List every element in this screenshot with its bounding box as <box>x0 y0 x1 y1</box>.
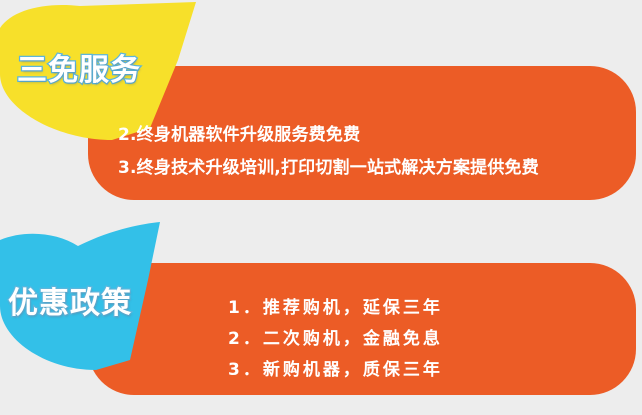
free-service-line-2: 2.终身机器软件升级服务费免费 <box>118 120 360 145</box>
section-free-service: 三免服务 2.终身机器软件升级服务费免费 3.终身技术升级培训,打印切割一站式解… <box>0 0 642 210</box>
section-preferential-policy: 优惠政策 1．推荐购机，延保三年 2．二次购机，金融免息 3．新购机器，质保三年 <box>0 210 642 415</box>
preferential-policy-line-1: 1．推荐购机，延保三年 <box>228 293 443 318</box>
preferential-policy-ribbon-title: 优惠政策 <box>8 278 132 322</box>
preferential-policy-line-3: 3．新购机器，质保三年 <box>228 355 443 380</box>
free-service-line-3: 3.终身技术升级培训,打印切割一站式解决方案提供免费 <box>118 153 539 178</box>
free-service-ribbon-title: 三免服务 <box>17 45 141 89</box>
preferential-policy-line-2: 2．二次购机，金融免息 <box>228 324 443 349</box>
promo-poster: 三免服务 2.终身机器软件升级服务费免费 3.终身技术升级培训,打印切割一站式解… <box>0 0 642 415</box>
